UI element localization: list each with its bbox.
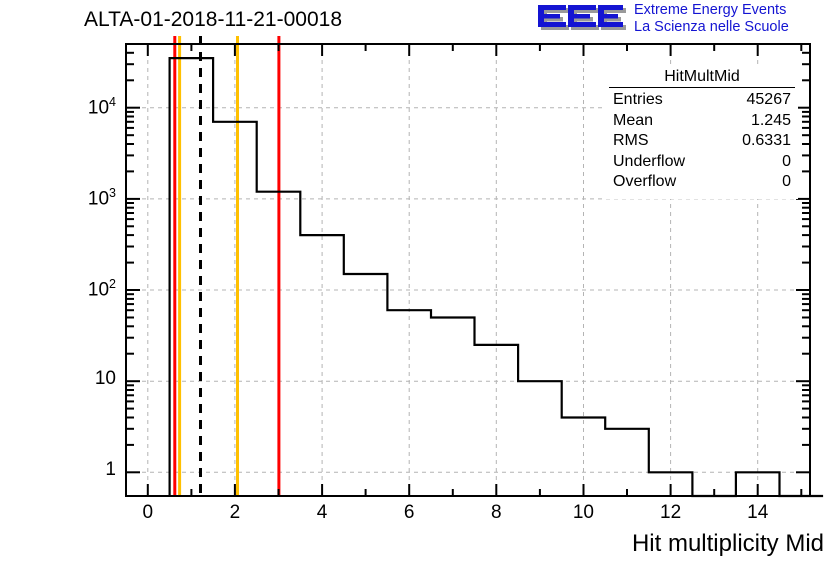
stats-row-key: Underflow [613, 152, 685, 173]
x-tick-label: 4 [296, 502, 348, 524]
stats-row: Overflow0 [607, 172, 797, 193]
stats-row: Entries45267 [607, 90, 797, 111]
stats-row-value: 45267 [747, 90, 792, 111]
stats-row-key: Mean [613, 111, 653, 132]
stats-row-value: 0 [782, 152, 791, 173]
x-tick-label: 10 [557, 502, 609, 524]
x-tick-label: 8 [470, 502, 522, 524]
x-tick-label: 2 [209, 502, 261, 524]
eee-logo-line2: La Scienza nelle Scuole [634, 19, 834, 36]
y-tick-label: 1 [52, 459, 116, 481]
page-title: ALTA-01-2018-11-21-00018 [84, 8, 342, 32]
stats-row-key: Overflow [613, 172, 676, 193]
x-tick-label: 12 [645, 502, 697, 524]
stats-row-key: Entries [613, 90, 663, 111]
stats-title: HitMultMid [609, 67, 795, 88]
y-tick-label: 104 [52, 95, 116, 119]
eee-logo-line1: Extreme Energy Events [634, 2, 834, 19]
x-axis-title: Hit multiplicity Mid [632, 530, 824, 558]
stats-box: HitMultMid Entries45267Mean1.245RMS0.633… [606, 66, 798, 199]
stats-row-value: 0.6331 [742, 131, 791, 152]
y-tick-label: 103 [52, 186, 116, 210]
stats-row: Underflow0 [607, 152, 797, 173]
x-tick-label: 6 [383, 502, 435, 524]
x-tick-label: 0 [122, 502, 174, 524]
x-tick-label: 14 [732, 502, 784, 524]
eee-logo: Extreme Energy Events La Scienza nelle S… [536, 2, 834, 38]
stats-row-value: 1.245 [751, 111, 791, 132]
eee-logo-text: Extreme Energy Events La Scienza nelle S… [634, 2, 834, 38]
stats-row-key: RMS [613, 131, 649, 152]
y-tick-label: 102 [52, 277, 116, 301]
stats-row: RMS0.6331 [607, 131, 797, 152]
stats-rows: Entries45267Mean1.245RMS0.6331Underflow0… [607, 90, 797, 193]
eee-logo-mark [536, 3, 628, 35]
y-tick-label: 10 [52, 368, 116, 390]
stats-row: Mean1.245 [607, 111, 797, 132]
stats-row-value: 0 [782, 172, 791, 193]
